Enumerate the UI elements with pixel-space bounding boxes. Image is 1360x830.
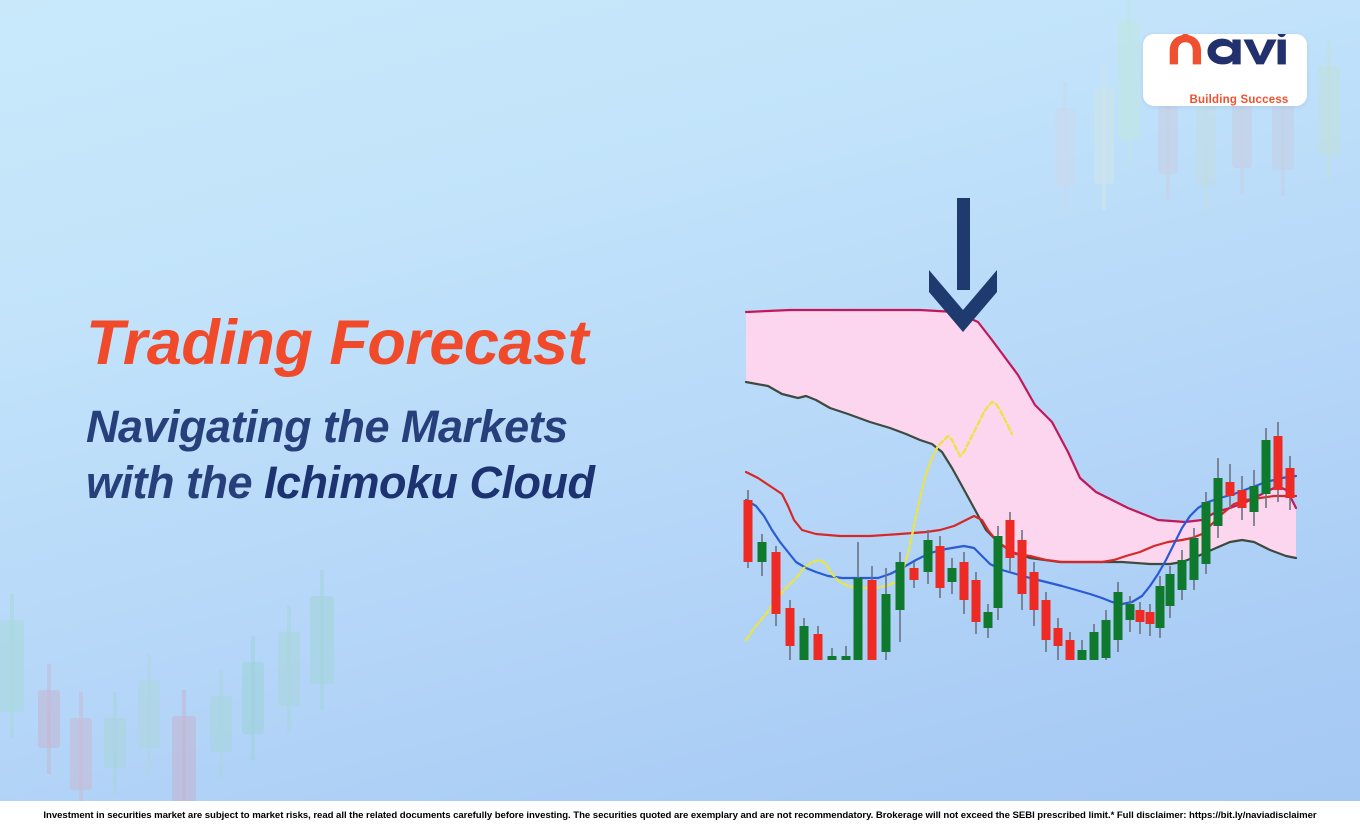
candle-body: [814, 634, 823, 660]
candle-body: [1274, 436, 1283, 490]
navia-wordmark-extra: [1156, 63, 1294, 91]
candle-body: [1054, 628, 1063, 646]
candle-body: [1114, 592, 1123, 640]
candle-body: [910, 568, 919, 580]
candle-body: [1286, 468, 1295, 498]
candle-body: [842, 656, 851, 660]
candle-body: [1078, 650, 1087, 660]
poster-canvas: Trading Forecast Navigating the Markets …: [0, 0, 1360, 830]
candle-body: [744, 500, 753, 562]
page-title: Trading Forecast: [86, 312, 746, 375]
page-subtitle: Navigating the Markets with the Ichimoku…: [86, 399, 746, 512]
candle-body: [936, 546, 945, 588]
candle-body: [1066, 640, 1075, 660]
candle-body: [1166, 574, 1175, 606]
candle-body: [854, 578, 863, 660]
candle-body: [1006, 520, 1015, 558]
candle-body: [1018, 540, 1027, 594]
candle-body: [772, 552, 781, 614]
headline-block: Trading Forecast Navigating the Markets …: [86, 312, 746, 512]
candle-body: [868, 580, 877, 660]
disclaimer-text: Investment in securities market are subj…: [43, 810, 1316, 821]
candle-body: [1102, 620, 1111, 658]
candle-body: [828, 656, 837, 660]
candle-body: [984, 612, 993, 628]
candle-body: [1136, 610, 1145, 622]
navia-wordmark: [1162, 34, 1288, 65]
subtitle-line-1: Navigating the Markets: [86, 399, 746, 455]
candle-body: [1178, 560, 1187, 590]
candle-body: [896, 562, 905, 610]
candle-body: [1262, 440, 1271, 494]
candle-body: [1202, 502, 1211, 564]
candle-body: [1190, 538, 1199, 580]
candle-body: [1146, 612, 1155, 624]
logo-tagline: Building Success: [1189, 94, 1288, 106]
candle-body: [786, 608, 795, 646]
candle-body: [1030, 572, 1039, 610]
candle-body: [960, 562, 969, 600]
candle-body: [1090, 632, 1099, 660]
subtitle-line-2-lead: with the: [86, 457, 264, 508]
navia-logo[interactable]: Building Success: [1143, 34, 1307, 106]
candle-body: [1126, 604, 1135, 620]
candle-body: [1214, 478, 1223, 526]
candle-body: [758, 542, 767, 562]
candle-body: [1250, 486, 1259, 512]
ichimoku-chart-svg: [730, 190, 1310, 660]
subtitle-line-2: with the Ichimoku Cloud: [86, 455, 746, 511]
candle-body: [800, 626, 809, 660]
disclaimer-bar: Investment in securities market are subj…: [0, 801, 1360, 830]
candle-body: [994, 536, 1003, 608]
ichimoku-chart: [730, 190, 1310, 660]
candle-body: [924, 540, 933, 572]
candle-body: [1226, 482, 1235, 496]
candle-body: [1156, 586, 1165, 628]
candle-body: [882, 594, 891, 652]
candle-body: [1238, 490, 1247, 508]
subtitle-line-2-emphasis: Ichimoku Cloud: [264, 457, 595, 508]
candle-body: [948, 568, 957, 582]
candle-body: [972, 580, 981, 622]
candle-body: [1042, 600, 1051, 640]
